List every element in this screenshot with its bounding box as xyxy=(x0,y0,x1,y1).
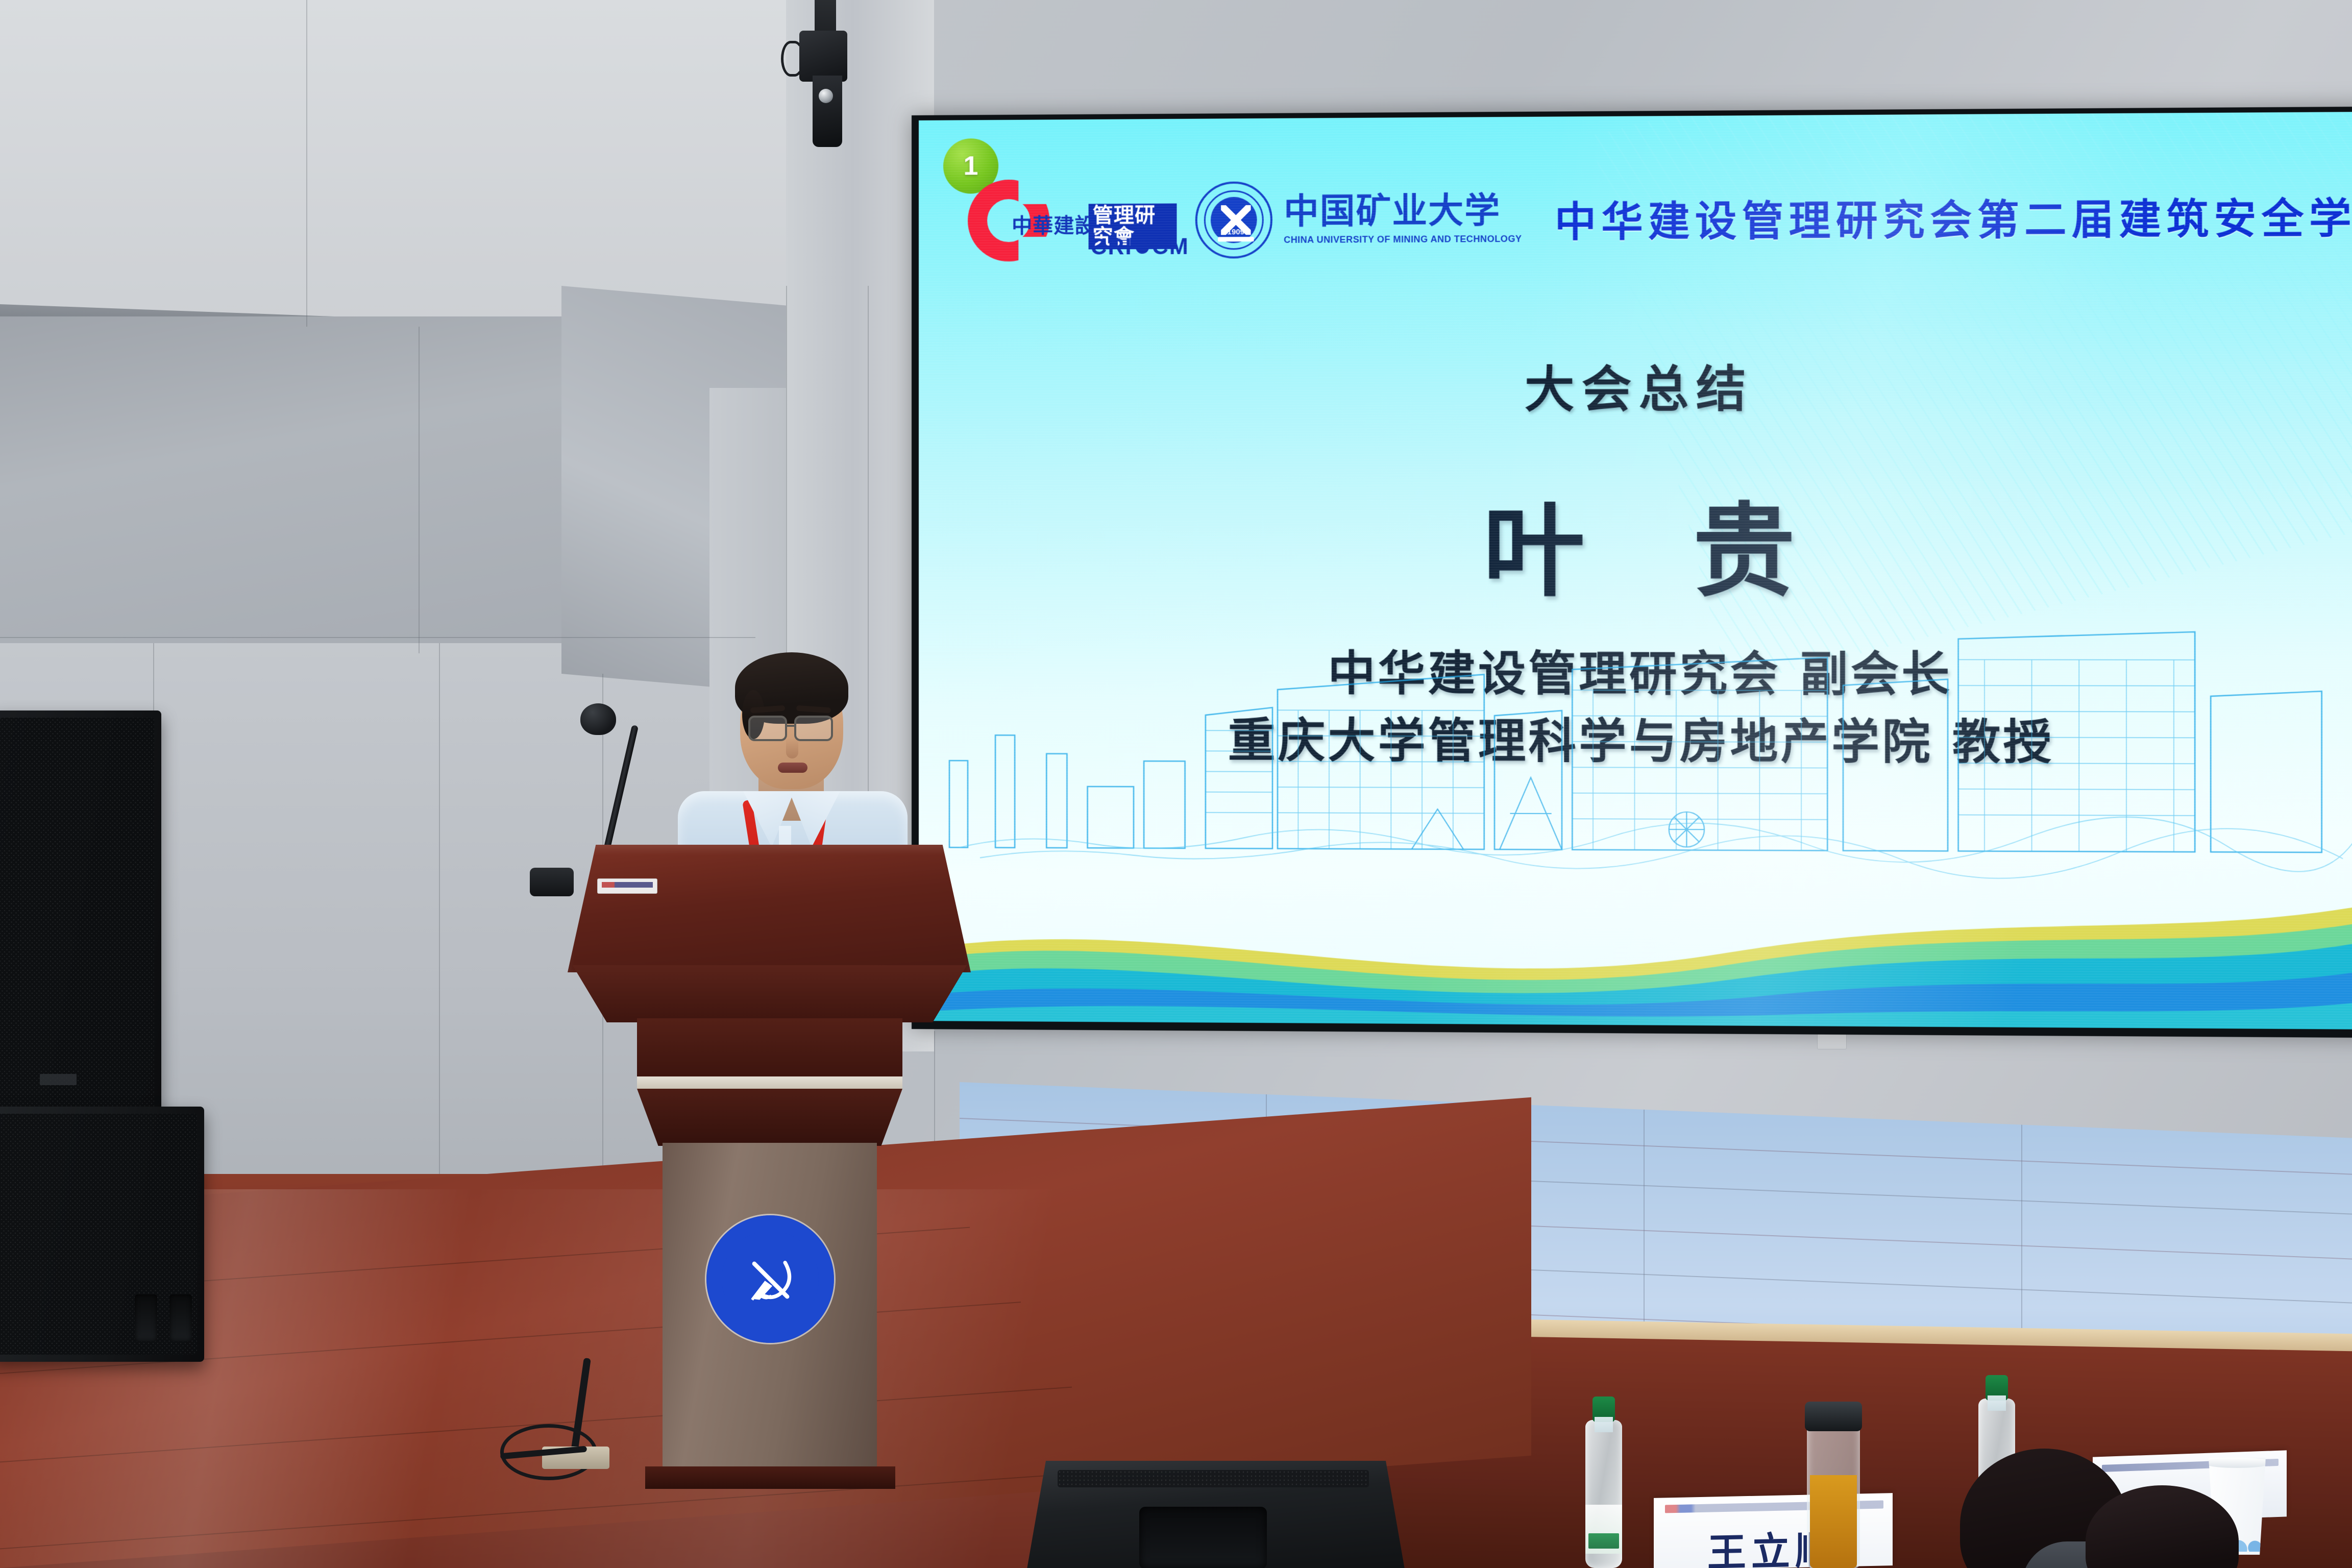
eyeglasses-lens-right xyxy=(794,716,833,741)
speaker-name-text: 叶 贵 xyxy=(919,469,2352,616)
podium-neck-upper xyxy=(637,1018,902,1079)
podium-base xyxy=(645,1466,895,1489)
tumbler-lid xyxy=(1805,1402,1862,1431)
cricm-dot-icon xyxy=(1136,240,1149,254)
tea-liquid xyxy=(1810,1475,1857,1568)
camera-housing xyxy=(813,76,842,147)
camera-lens-icon xyxy=(819,89,833,103)
speaker-brand-badge xyxy=(40,1074,77,1085)
led-display-bezel: 1 中華建設 管理研究會 CRICM 1909 xyxy=(912,107,2352,1038)
bottle-neck xyxy=(1595,1417,1613,1432)
lectern-podium xyxy=(555,845,984,1488)
cumt-seal-bar xyxy=(1218,237,1254,241)
c-ring-logo-icon: 中華建設 管理研究會 CRICM xyxy=(963,177,1177,264)
podium-apron xyxy=(555,965,984,1022)
bottle-label xyxy=(1585,1505,1622,1554)
wall-seam xyxy=(419,327,420,653)
cricm-chinese-traditional: 中華建設 xyxy=(1012,209,1096,239)
wall-seam xyxy=(0,637,755,638)
slide-kicker-text: 大会总结 xyxy=(919,347,2352,422)
cup-rim xyxy=(2202,1458,2272,1468)
presentation-slide[interactable]: 1 中華建設 管理研究會 CRICM 1909 xyxy=(919,112,2352,1030)
speaker-grille xyxy=(0,1114,197,1355)
wall-panel-a xyxy=(0,316,602,643)
podium-desktop xyxy=(568,845,971,972)
loudspeaker-icon xyxy=(0,710,161,1119)
conference-hall-photo: 1 中華建設 管理研究會 CRICM 1909 xyxy=(0,0,2352,1568)
wave-ribbon-decoration xyxy=(919,781,2352,1030)
hair xyxy=(735,652,848,724)
bottle-neck xyxy=(1988,1395,2006,1411)
speaker-handle xyxy=(169,1294,192,1341)
wall-seam xyxy=(439,643,440,1210)
nose xyxy=(786,738,798,758)
podium-neck-lower xyxy=(637,1089,902,1146)
water-bottle xyxy=(1585,1420,1622,1568)
speaker-handle xyxy=(135,1294,157,1341)
eyeglasses-lens-left xyxy=(748,716,787,741)
conference-title: 中华建设管理研究会第二届建筑安全学术研讨会 xyxy=(1555,184,2352,249)
eyeglasses-bridge xyxy=(786,725,796,727)
university-seal-icon: 1909 中国矿业大学 CHINA UNIVERSITY OF MINING A… xyxy=(1195,175,1536,264)
speaker-grille xyxy=(0,718,154,1112)
cricm-abbreviation: CRICM xyxy=(1091,234,1189,260)
ceiling-camera-icon xyxy=(799,31,847,82)
cumt-founded-year: 1909 xyxy=(1222,228,1249,236)
cumt-seal-ring: 1909 xyxy=(1195,181,1272,258)
monitor-vent-grille xyxy=(1058,1470,1369,1487)
podium-accent-stripe xyxy=(637,1076,902,1090)
tea-tumbler xyxy=(1807,1424,1860,1568)
mouth xyxy=(778,763,807,773)
slide-header: 中華建設 管理研究會 CRICM 1909 中国矿业大学 xyxy=(963,168,2336,267)
wall-seam xyxy=(306,0,307,327)
cumt-wordmark: 中国矿业大学 CHINA UNIVERSITY OF MINING AND TE… xyxy=(1284,193,1522,246)
monitor-port-opening xyxy=(1139,1507,1267,1568)
podium-asset-label xyxy=(597,878,657,894)
microphone-icon xyxy=(580,703,616,735)
cumt-name-english: CHINA UNIVERSITY OF MINING AND TECHNOLOG… xyxy=(1284,233,1522,245)
school-seal-icon xyxy=(706,1215,834,1343)
cumt-name-chinese: 中国矿业大学 xyxy=(1284,193,1522,230)
school-seal-glyph xyxy=(743,1253,797,1306)
subwoofer-icon xyxy=(0,1107,204,1362)
